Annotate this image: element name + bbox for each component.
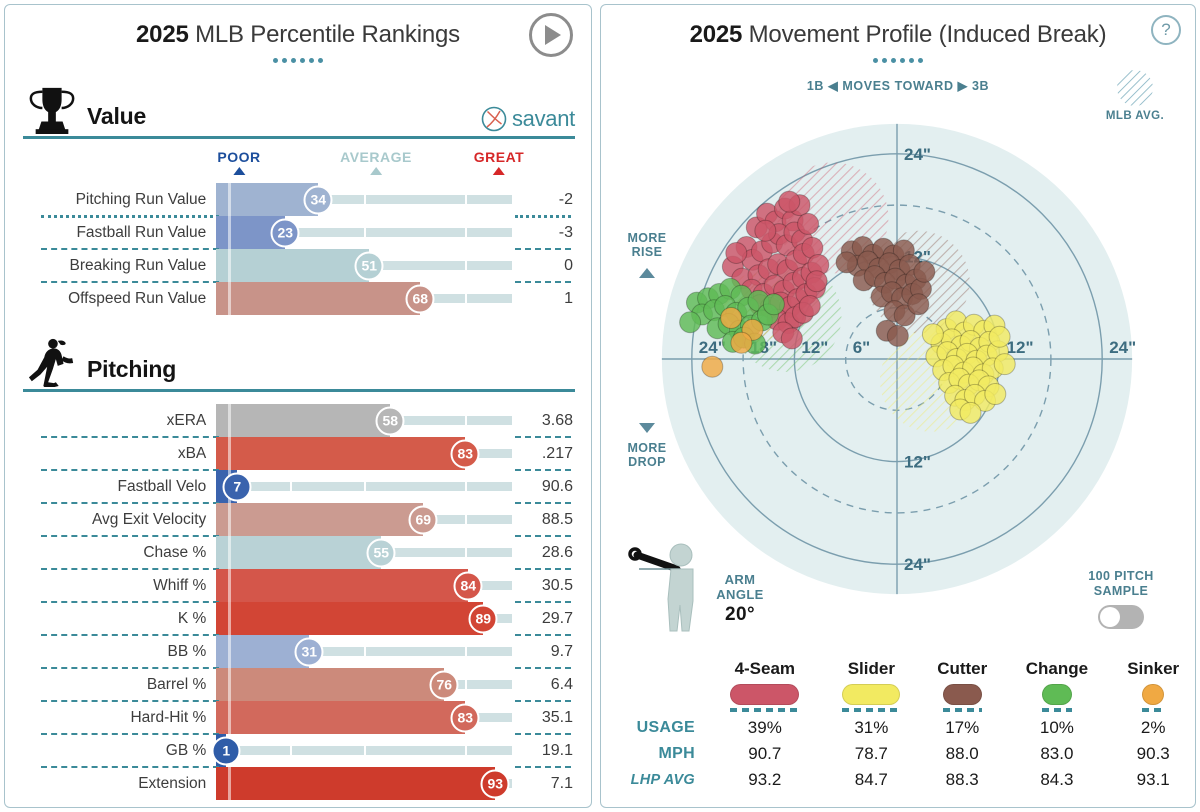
arm-angle-caption: ARMANGLE 20° (707, 573, 773, 626)
percentile-row-label: BB % (23, 643, 216, 661)
pitching-rows: xERA583.68xBA83.217Fastball Velo790.6Avg… (5, 404, 591, 800)
svg-text:12": 12" (801, 338, 828, 357)
pitch-table-cell: 88.3 (920, 767, 1004, 793)
percentile-bar (216, 437, 465, 470)
section-title-value: Value (87, 103, 146, 134)
scale-header: POOR AVERAGE GREAT (5, 149, 591, 183)
percentile-rankings-panel: 2025 MLB Percentile Rankings Value (4, 4, 592, 808)
pitch-table-cell: 90.3 (1109, 741, 1197, 767)
pitch-color-swatch (920, 681, 1004, 715)
scale-label-average: AVERAGE (340, 149, 412, 165)
svg-text:24": 24" (699, 338, 726, 357)
section-title-pitching: Pitching (87, 356, 176, 387)
percentile-row-label: GB % (23, 742, 216, 760)
percentile-row-value: 28.6 (512, 544, 573, 562)
percentile-row-value: 1 (512, 290, 573, 308)
percentile-row-label: Whiff % (23, 577, 216, 595)
percentile-row[interactable]: xBA83.217 (23, 437, 573, 470)
percentile-bar (216, 536, 381, 569)
pitch-table-cell: 78.7 (823, 741, 920, 767)
percentile-track: 1 (216, 734, 512, 767)
percentile-row-label: Hard-Hit % (23, 709, 216, 727)
title-dots (5, 52, 591, 70)
percentile-row[interactable]: Breaking Run Value510 (23, 249, 573, 282)
percentile-row[interactable]: Offspeed Run Value681 (23, 282, 573, 315)
percentile-bubble: 76 (430, 670, 459, 699)
percentile-row-value: -3 (512, 224, 573, 242)
percentile-row-value: 3.68 (512, 412, 573, 430)
percentile-track: 83 (216, 437, 512, 470)
pitch-table-row: LHP AVG93.284.788.384.393.1 (601, 767, 1197, 793)
pitch-sample-toggle-group[interactable]: 100 PITCHSAMPLE (1069, 569, 1173, 629)
pitch-table-cell: 84.3 (1004, 767, 1109, 793)
movement-title-rest: Movement Profile (Induced Break) (742, 21, 1106, 48)
percentile-track: 31 (216, 635, 512, 668)
percentile-track: 34 (216, 183, 512, 216)
percentile-bubble: 58 (376, 406, 405, 435)
percentile-row[interactable]: BB %319.7 (23, 635, 573, 668)
percentile-bubble: 55 (367, 538, 396, 567)
table-corner (601, 659, 707, 681)
svg-text:12": 12" (1007, 338, 1034, 357)
pitch-table-cell: 93.1 (1109, 767, 1197, 793)
pitch-table-cell: 84.7 (823, 767, 920, 793)
percentile-row-label: K % (23, 610, 216, 628)
percentile-bar (216, 569, 468, 602)
pitch-column-header: 4-Seam (707, 659, 823, 681)
pitch-type-table: 4-SeamSliderCutterChangeSinker USAGE39%3… (601, 659, 1197, 793)
pitch-sample-toggle[interactable] (1098, 605, 1144, 629)
percentile-bar (216, 282, 420, 315)
percentile-track: 58 (216, 404, 512, 437)
play-button[interactable] (529, 13, 573, 57)
movement-profile-panel: 2025 Movement Profile (Induced Break) ? … (600, 4, 1196, 808)
pitch-table-cell: 83.0 (1004, 741, 1109, 767)
page-title-rest: MLB Percentile Rankings (189, 21, 460, 48)
pitch-table-row-label: LHP AVG (601, 767, 707, 793)
percentile-track: 69 (216, 503, 512, 536)
percentile-bubble: 83 (451, 439, 480, 468)
baseball-icon (481, 106, 507, 132)
right-title-wrap: 2025 Movement Profile (Induced Break) ? (601, 5, 1195, 70)
pitch-table-cell: 10% (1004, 715, 1109, 741)
percentile-track: 7 (216, 470, 512, 503)
pitch-table-cell: 88.0 (920, 741, 1004, 767)
percentile-bubble: 31 (295, 637, 324, 666)
percentile-bubble: 51 (355, 251, 384, 280)
percentile-bar (216, 249, 369, 282)
moves-toward-1b: 1B (807, 79, 824, 93)
value-rows: Pitching Run Value34-2Fastball Run Value… (5, 183, 591, 315)
pitch-table-row-label: USAGE (601, 715, 707, 741)
svg-text:24": 24" (904, 145, 931, 164)
movement-title-year: 2025 (690, 21, 743, 48)
percentile-track: 76 (216, 668, 512, 701)
percentile-row-value: 9.7 (512, 643, 573, 661)
percentile-row[interactable]: Fastball Velo790.6 (23, 470, 573, 503)
percentile-row-value: -2 (512, 191, 573, 209)
svg-text:24": 24" (904, 555, 931, 574)
percentile-row-label: Fastball Run Value (23, 224, 216, 242)
scale-label-poor: POOR (217, 149, 260, 165)
percentile-row-value: 7.1 (512, 775, 573, 793)
percentile-row-value: 0 (512, 257, 573, 275)
axis-more-drop: MOREDROP (615, 423, 679, 470)
moves-toward-text: MOVES TOWARD (842, 79, 953, 93)
left-title-wrap: 2025 MLB Percentile Rankings (5, 5, 591, 70)
percentile-track: 23 (216, 216, 512, 249)
percentile-bar (216, 602, 483, 635)
section-header-value: Value savant (23, 84, 575, 139)
pitcher-icon (23, 337, 81, 387)
page-title: 2025 MLB Percentile Rankings (5, 5, 591, 49)
savant-logo-text: savant (512, 106, 575, 132)
percentile-row-label: Offspeed Run Value (23, 290, 216, 308)
scale-marker-average (370, 167, 382, 175)
pitch-color-swatch (1004, 681, 1109, 715)
pitch-table-cell: 39% (707, 715, 823, 741)
percentile-row[interactable]: K %8929.7 (23, 602, 573, 635)
percentile-row-value: 19.1 (512, 742, 573, 760)
percentile-row-value: 88.5 (512, 511, 573, 529)
table-header-row: 4-SeamSliderCutterChangeSinker (601, 659, 1197, 681)
pitch-column-header: Cutter (920, 659, 1004, 681)
percentile-bubble: 69 (409, 505, 438, 534)
percentile-track-background (216, 746, 512, 755)
percentile-track: 68 (216, 282, 512, 315)
pitch-column-header: Change (1004, 659, 1109, 681)
movement-title: 2025 Movement Profile (Induced Break) (601, 5, 1195, 49)
percentile-row-label: Extension (23, 775, 216, 793)
percentile-bubble: 83 (451, 703, 480, 732)
percentile-row[interactable]: GB %119.1 (23, 734, 573, 767)
percentile-bar (216, 503, 423, 536)
axis-more-rise: MORERISE (615, 231, 679, 278)
percentile-row-value: 90.6 (512, 478, 573, 496)
pitch-column-header: Slider (823, 659, 920, 681)
pitch-table-cell: 93.2 (707, 767, 823, 793)
percentile-row[interactable]: xERA583.68 (23, 404, 573, 437)
arm-angle-value: 20° (707, 604, 773, 626)
percentile-row[interactable]: Pitching Run Value34-2 (23, 183, 573, 216)
scale-marker-great (493, 167, 505, 175)
pitch-table-cell: 31% (823, 715, 920, 741)
percentile-row-label: xERA (23, 412, 216, 430)
play-icon (545, 25, 561, 45)
percentile-row-label: Fastball Velo (23, 478, 216, 496)
pitch-table-row-label: MPH (601, 741, 707, 767)
percentile-bar (216, 767, 495, 800)
percentile-track: 93 (216, 767, 512, 800)
svg-text:12": 12" (904, 453, 931, 472)
percentile-row-value: 30.5 (512, 577, 573, 595)
pitch-column-header: Sinker (1109, 659, 1197, 681)
percentile-row[interactable]: Hard-Hit %8335.1 (23, 701, 573, 734)
pitch-color-swatch (1109, 681, 1197, 715)
percentile-bubble: 68 (406, 284, 435, 313)
question-mark-icon[interactable]: ? (1151, 15, 1181, 45)
moves-toward-3b: 3B (972, 79, 989, 93)
percentile-row[interactable]: Fastball Run Value23-3 (23, 216, 573, 249)
dashboard: 2025 MLB Percentile Rankings Value (0, 0, 1200, 812)
pitch-table-cell: 2% (1109, 715, 1197, 741)
savant-logo: savant (481, 106, 575, 132)
pitch-color-swatch (707, 681, 823, 715)
percentile-bubble: 1 (212, 736, 241, 765)
percentile-row-value: 35.1 (512, 709, 573, 727)
percentile-row[interactable]: Avg Exit Velocity6988.5 (23, 503, 573, 536)
percentile-track: 83 (216, 701, 512, 734)
percentile-bubble: 7 (223, 472, 252, 501)
percentile-row-label: Breaking Run Value (23, 257, 216, 275)
percentile-track: 89 (216, 602, 512, 635)
arrow-right-icon: ▶ (958, 79, 968, 93)
scale-label-great: GREAT (474, 149, 524, 165)
percentile-track: 84 (216, 569, 512, 602)
scale-marker-poor (233, 167, 245, 175)
section-header-pitching: Pitching (23, 337, 575, 392)
percentile-bar (216, 404, 390, 437)
arrow-left-icon: ◀ (828, 79, 838, 93)
svg-text:6": 6" (853, 338, 871, 357)
percentile-row-value: .217 (512, 445, 573, 463)
percentile-bubble: 84 (454, 571, 483, 600)
pitch-table-row: MPH90.778.788.083.090.3 (601, 741, 1197, 767)
percentile-row[interactable]: Whiff %8430.5 (23, 569, 573, 602)
percentile-bar (216, 668, 444, 701)
page-title-year: 2025 (136, 21, 189, 48)
pitch-table-cell: 17% (920, 715, 1004, 741)
percentile-row-label: Barrel % (23, 676, 216, 694)
percentile-track: 55 (216, 536, 512, 569)
percentile-row-value: 29.7 (512, 610, 573, 628)
pitch-table-row: USAGE39%31%17%10%2% (601, 715, 1197, 741)
percentile-bubble: 34 (304, 185, 333, 214)
percentile-row-label: xBA (23, 445, 216, 463)
pitch-pill-row (601, 681, 1197, 715)
toggle-knob (1100, 607, 1120, 627)
percentile-row-label: Chase % (23, 544, 216, 562)
pitch-table-cell: 90.7 (707, 741, 823, 767)
pill-row-spacer (601, 681, 707, 715)
svg-text:24": 24" (1109, 338, 1136, 357)
percentile-row[interactable]: Chase %5528.6 (23, 536, 573, 569)
percentile-track: 51 (216, 249, 512, 282)
percentile-bubble: 93 (481, 769, 510, 798)
trophy-icon (23, 84, 81, 134)
percentile-row-label: Pitching Run Value (23, 191, 216, 209)
percentile-row[interactable]: Extension937.1 (23, 767, 573, 800)
pitch-sample-label: 100 PITCHSAMPLE (1069, 569, 1173, 599)
percentile-bubble: 89 (469, 604, 498, 633)
arm-angle-widget: ARMANGLE 20° (619, 525, 779, 635)
percentile-bar (216, 701, 465, 734)
pitch-color-swatch (823, 681, 920, 715)
percentile-row-value: 6.4 (512, 676, 573, 694)
percentile-track-background (216, 482, 512, 491)
movement-title-dots (601, 52, 1195, 70)
percentile-row-label: Avg Exit Velocity (23, 511, 216, 529)
percentile-bubble: 23 (271, 218, 300, 247)
percentile-row[interactable]: Barrel %766.4 (23, 668, 573, 701)
